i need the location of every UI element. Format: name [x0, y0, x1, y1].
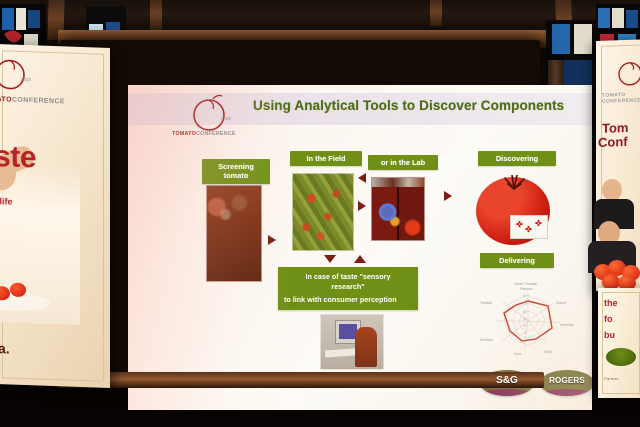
radar-chart-svg: Green Tomato Flavour Sweet Intensity Sal…: [480, 273, 576, 365]
svg-text:Tomato: Tomato: [480, 301, 492, 305]
projection-screen-frame: 2008 TOMATOCONFERENCE Using Analytical T…: [60, 40, 540, 385]
tomato-label-card: ✜ ✜ ✜: [510, 215, 548, 239]
banner-right-lower-line1: the: [604, 298, 618, 308]
sensory-line1: In case of taste "sensory: [284, 272, 412, 282]
arrow-down-icon: [324, 255, 336, 263]
conference-room-photo: 2008 TOMATOCONFERENCE Using Analytical T…: [0, 0, 640, 427]
svg-text:Flavour: Flavour: [520, 287, 533, 291]
logo-wordmark: TOMATOCONFERENCE: [172, 131, 236, 137]
label-in-the-field: In the Field: [290, 151, 362, 166]
banner-right-lower-small: Partner: [604, 376, 619, 381]
sensory-line3: to link with consumer perception: [284, 295, 412, 305]
svg-text:2008: 2008: [221, 116, 231, 121]
banner-right-logo-icon: [610, 57, 640, 89]
label-or-in-the-lab: or in the Lab: [368, 155, 438, 170]
banner-left-tomato-icon: [10, 283, 26, 298]
banner-right-small-text: TOMATO CONFERENCE 2008: [602, 91, 640, 105]
projection-screen: 2008 TOMATOCONFERENCE Using Analytical T…: [128, 85, 592, 410]
svg-text:Smokey: Smokey: [480, 338, 493, 342]
label-screening-line2: tomato: [207, 171, 265, 180]
photo-lab: [371, 177, 425, 241]
svg-text:Green Tomato: Green Tomato: [514, 282, 537, 286]
person-head: [602, 179, 622, 201]
label-delivering: Delivering: [480, 253, 554, 268]
ceiling-beam: [430, 0, 442, 26]
svg-text:Salty: Salty: [544, 350, 552, 354]
svg-text:2008: 2008: [20, 77, 31, 83]
person-at-computer: [355, 327, 377, 367]
sg-logo-text: S&G: [480, 375, 534, 386]
svg-text:80: 80: [523, 294, 527, 298]
svg-text:40: 40: [523, 324, 527, 328]
rogers-logo: ROGERS: [540, 370, 592, 396]
banner-left-word-tomato: TOMATO: [0, 95, 12, 103]
logo-swash: [480, 389, 534, 396]
slide-title: Using Analytical Tools to Discover Compo…: [253, 98, 573, 113]
seated-audience: [596, 175, 640, 265]
ceiling-beam: [150, 0, 162, 30]
banner-left-headline: aste: [0, 139, 36, 175]
cross-mark-icon: ✜: [535, 220, 542, 227]
arrow-up-icon: [354, 255, 366, 263]
logo-word-conference: CONFERENCE: [196, 131, 236, 137]
arrow-right-icon: [444, 191, 452, 201]
tomato-calyx: [502, 175, 526, 191]
banner-left-footer-letter: a.: [0, 340, 10, 356]
arrow-left-icon: [358, 173, 366, 183]
label-screening-tomato: Screening tomato: [202, 159, 270, 184]
banner-right-lower: the fo bu Partner: [598, 288, 640, 398]
label-screening-line1: Screening: [207, 162, 265, 171]
cross-mark-icon: ✜: [516, 221, 523, 228]
cross-mark-icon: ✜: [525, 226, 532, 233]
photo-screening-tomato: [206, 185, 262, 282]
arrow-right-icon: [358, 201, 366, 211]
radar-chart-delivering: Green Tomato Flavour Sweet Intensity Sal…: [480, 273, 576, 365]
svg-text:50: 50: [523, 317, 527, 321]
arrow-right-icon: [268, 235, 276, 245]
photo-sensory-computer: [320, 314, 384, 370]
photo-tomato-discovering: ✜ ✜ ✜: [476, 177, 550, 245]
sensory-research-box: In case of taste "sensory research" to l…: [278, 267, 418, 310]
logo-word-tomato: TOMATO: [172, 131, 196, 137]
photo-field: [292, 173, 354, 251]
banner-left-logo-icon: 2008: [0, 54, 44, 96]
tomato-display-cluster: [594, 258, 640, 288]
banner-left: 2008 TOMATOCONFERENCE aste ty of life a.: [0, 44, 110, 388]
logo-swash: [540, 389, 592, 396]
svg-text:70: 70: [523, 302, 527, 306]
banner-right-title-line2: Conf: [598, 134, 628, 150]
banner-right-lower-line3: bu: [604, 330, 615, 340]
screen-bottom-bar: [58, 372, 544, 388]
banner-right-lower-badge: [606, 348, 636, 366]
label-discovering: Discovering: [478, 151, 556, 166]
svg-text:60: 60: [523, 310, 527, 314]
svg-text:Sweet: Sweet: [556, 301, 566, 305]
svg-text:30: 30: [523, 331, 527, 335]
banner-left-subline: ty of life: [0, 195, 13, 206]
svg-text:Sour: Sour: [514, 352, 522, 356]
sensory-line2: research": [284, 282, 412, 292]
banner-right-lower-line2: fo: [604, 314, 613, 324]
svg-text:Intensity: Intensity: [560, 323, 574, 327]
rogers-logo-text: ROGERS: [540, 376, 592, 385]
